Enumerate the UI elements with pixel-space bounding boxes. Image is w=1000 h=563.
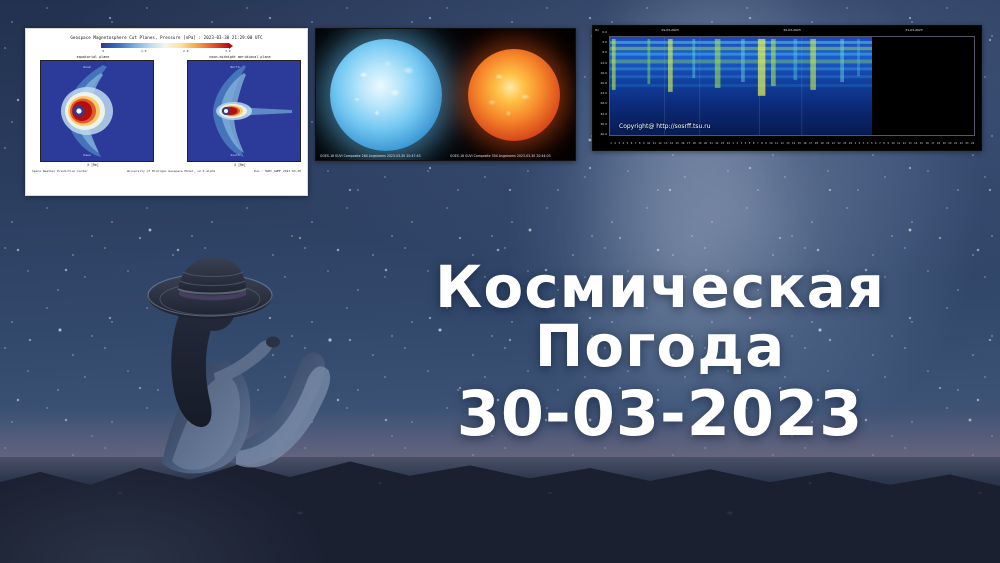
colorbar-gradient (101, 43, 229, 48)
subplot-meridional: noon-midnight meridional plane (181, 55, 299, 167)
y-tick: 12.0 (600, 61, 607, 65)
y-tick: 40.0 (600, 132, 607, 136)
subplot-xlabel: X [Re] (181, 163, 299, 167)
date-label: 31-03-2023 (853, 28, 975, 36)
subplot-plot-area: North South (187, 60, 301, 162)
magnetosphere-title: Geospace Magnetosphere Cut Planes, Press… (26, 29, 307, 40)
solar-caption-left: GOES-16 SUVI Composite 284 Angstroms 202… (320, 154, 421, 158)
magnetosphere-panel[interactable]: Geospace Magnetosphere Cut Planes, Press… (25, 28, 308, 196)
page-title: Космическая Погода 30-03-2023 (330, 258, 990, 446)
subplot-corner-top: North (231, 65, 240, 69)
date-label: 29-03-2023 (609, 28, 731, 36)
space-weather-slide: Космическая Погода 30-03-2023 Geospace M… (0, 0, 1000, 563)
subplot-plot-area: Dusk Dawn (40, 60, 154, 162)
spectrogram-plot-area (609, 36, 975, 136)
magnetosphere-subplots: equatorial plane Dusk (26, 53, 307, 167)
title-line-1: Космическая Погода (330, 258, 990, 376)
y-tick: 0.0 (602, 30, 607, 34)
colorbar-tick: 0 (103, 49, 105, 53)
y-tick: 36.0 (600, 122, 607, 126)
colorbar-tick: 3.0 (225, 49, 230, 53)
spectrogram-panel[interactable]: Hz 0.0 4.0 8.0 12.0 16.0 20.0 24.0 28.0 … (592, 25, 982, 151)
y-tick: 28.0 (600, 101, 607, 105)
spectrogram-date-labels: 29-03-2023 30-03-2023 31-03-2023 (609, 28, 975, 36)
subplot-corner-bottom: South (231, 153, 240, 157)
y-tick: 20.0 (600, 81, 607, 85)
spectrogram-y-axis: 0.0 4.0 8.0 12.0 16.0 20.0 24.0 28.0 32.… (595, 30, 607, 136)
sun-surface-texture (468, 49, 560, 141)
solar-imagery-panel[interactable]: GOES-16 SUVI Composite 284 Angstroms 202… (315, 28, 576, 161)
hour-tick: 24 (970, 142, 975, 145)
sun-image-284-angstrom (330, 39, 442, 151)
magnetosphere-footer: Space Weather Prediction Center Universi… (26, 167, 307, 173)
subplot-xlabel: X [Re] (34, 163, 152, 167)
spectrogram-copyright: Copyright@ http://sosrff.tsu.ru (619, 123, 711, 130)
date-label: 30-03-2023 (731, 28, 853, 36)
y-tick: 32.0 (600, 112, 607, 116)
y-tick: 16.0 (600, 71, 607, 75)
subplot-label: equatorial plane (34, 55, 152, 59)
subplot-equatorial: equatorial plane Dusk (34, 55, 152, 167)
subplot-corner-bottom: Dawn (84, 153, 91, 157)
spectrogram-data (610, 37, 872, 135)
colorbar-tick: 2.0 (183, 49, 188, 53)
spectrogram-hour-ticks: 1234567891011121314151617181920212223241… (609, 139, 975, 147)
subplot-corner-top: Dusk (84, 65, 91, 69)
colorbar-tick: 1.0 (141, 49, 146, 53)
sun-image-304-angstrom (468, 49, 560, 141)
solar-caption-right: GOES-16 SUVI Composite 304 Angstroms 202… (450, 154, 551, 158)
subplot-label: noon-midnight meridional plane (181, 55, 299, 59)
y-tick: 8.0 (602, 50, 607, 54)
footer-right: Run : SWPC_SWMF_2023-03-30 (254, 169, 301, 173)
y-tick: 4.0 (602, 40, 607, 44)
y-tick: 24.0 (600, 91, 607, 95)
footer-center: University of Michigan Geospace Model, v… (127, 169, 216, 173)
footer-left: Space Weather Prediction Center (32, 169, 88, 173)
sun-surface-texture (330, 39, 442, 151)
title-line-2: 30-03-2023 (330, 382, 990, 445)
